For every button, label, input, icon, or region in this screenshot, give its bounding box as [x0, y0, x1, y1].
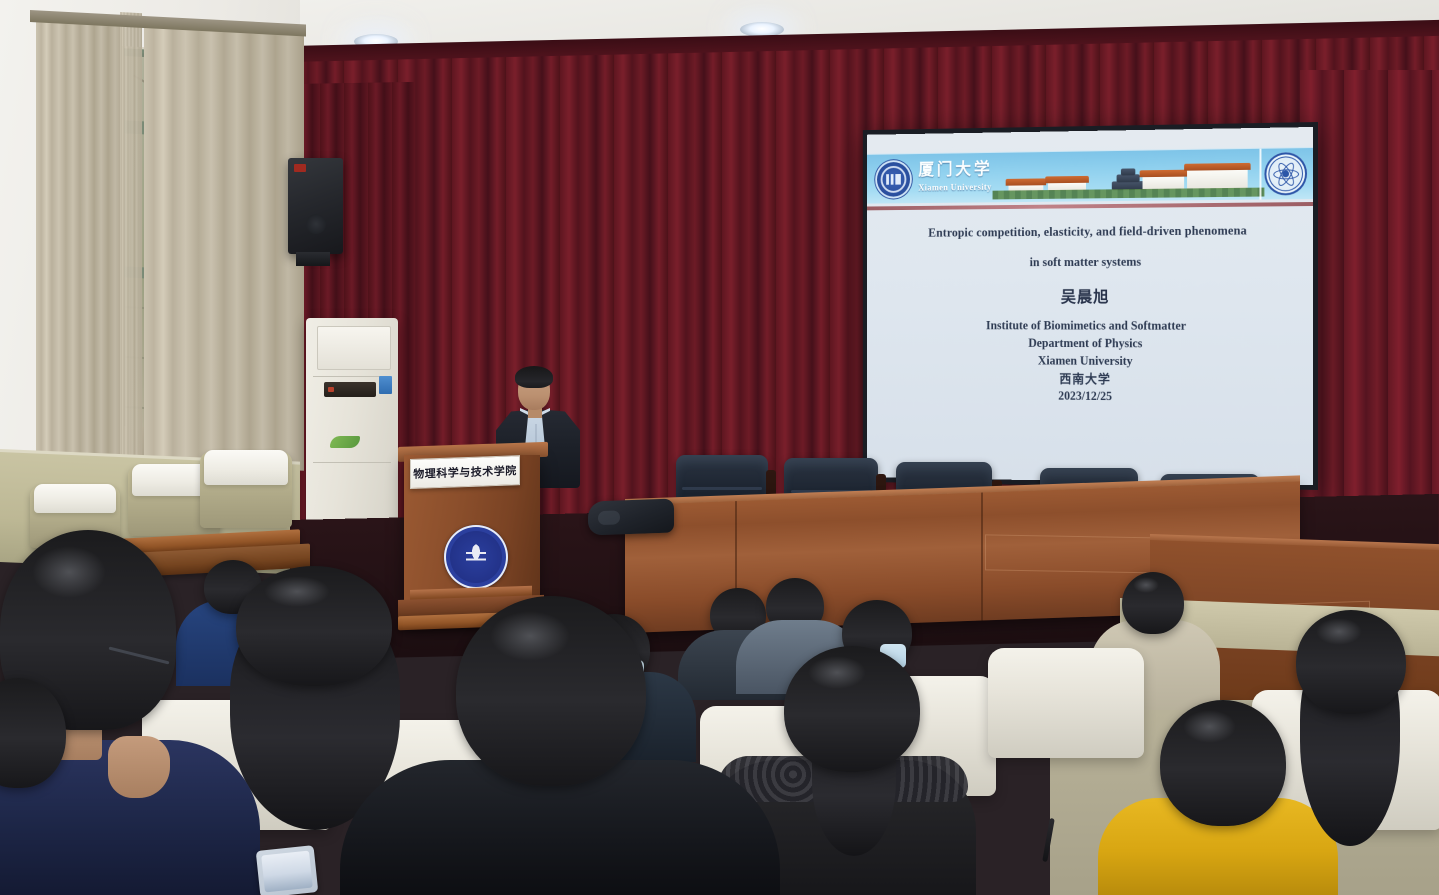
slide-affiliation: Institute of Biomimetics and Softmatter …	[986, 318, 1186, 407]
auditorium-seat[interactable]	[988, 648, 1144, 758]
attendee-yellow-hoodie-head	[1160, 700, 1286, 826]
attendee-black-jacket-head	[456, 596, 646, 786]
hedge-row	[993, 188, 1265, 200]
auditorium-seat[interactable]	[200, 452, 292, 528]
ac-display-panel[interactable]	[324, 382, 376, 397]
smartphone[interactable]	[256, 845, 319, 895]
university-crest-emblem-icon	[444, 525, 508, 589]
white-headrest-cover	[34, 484, 117, 513]
beige-window-drape	[36, 14, 124, 467]
university-name-en: Xiamen University	[918, 182, 991, 193]
attendee-hand	[108, 736, 170, 798]
speaker-mount-bracket	[296, 252, 330, 266]
backpack-on-table[interactable]	[588, 498, 674, 535]
white-headrest-cover	[204, 450, 289, 485]
banner-divider	[1259, 149, 1261, 200]
podium-sign: 物理科学与技术学院	[410, 455, 520, 489]
slide-title-line1: Entropic competition, elasticity, and fi…	[928, 224, 1247, 241]
attendee-head-right	[1296, 610, 1406, 714]
podium-sign-text: 物理科学与技术学院	[413, 462, 517, 482]
affiliation-line4: 西南大学	[986, 370, 1186, 389]
slide-title-line2: in soft matter systems	[1030, 255, 1141, 270]
pagoda-building-icon	[1110, 164, 1145, 190]
atom-institute-emblem-icon	[1264, 152, 1307, 195]
attendee-fur-trim-head	[784, 646, 920, 772]
beige-window-drape	[144, 22, 304, 471]
ac-air-vent	[317, 326, 391, 370]
affiliation-line1: Institute of Biomimetics and Softmatter	[986, 318, 1186, 336]
affiliation-line2: Department of Physics	[986, 335, 1186, 353]
slide-date: 2023/12/25	[986, 387, 1186, 406]
energy-label	[379, 376, 392, 394]
slide-header-banner: 厦门大学 Xiamen University	[867, 147, 1313, 204]
xiamen-university-seal-icon	[875, 159, 912, 198]
leaf-decal-icon	[330, 436, 360, 448]
lecture-hall-scene: 厦门大学 Xiamen University Entro	[0, 0, 1439, 895]
speaker-hair	[515, 366, 553, 388]
speaker-driver	[306, 214, 326, 234]
slide-author-name: 吴晨旭	[1061, 283, 1110, 307]
wall-mounted-loudspeaker	[288, 158, 343, 254]
projection-screen: 厦门大学 Xiamen University Entro	[867, 127, 1313, 485]
speaker-brand-badge	[294, 164, 306, 172]
university-name-block: 厦门大学 Xiamen University	[918, 162, 992, 195]
university-name-cn: 厦门大学	[918, 160, 992, 180]
campus-buildings-illustration	[993, 149, 1265, 203]
attendee-long-hair-head	[236, 566, 392, 686]
affiliation-line3: Xiamen University	[986, 352, 1186, 371]
attendee-beige-jacket-head	[1122, 572, 1184, 634]
slide-content: Entropic competition, elasticity, and fi…	[867, 207, 1313, 485]
